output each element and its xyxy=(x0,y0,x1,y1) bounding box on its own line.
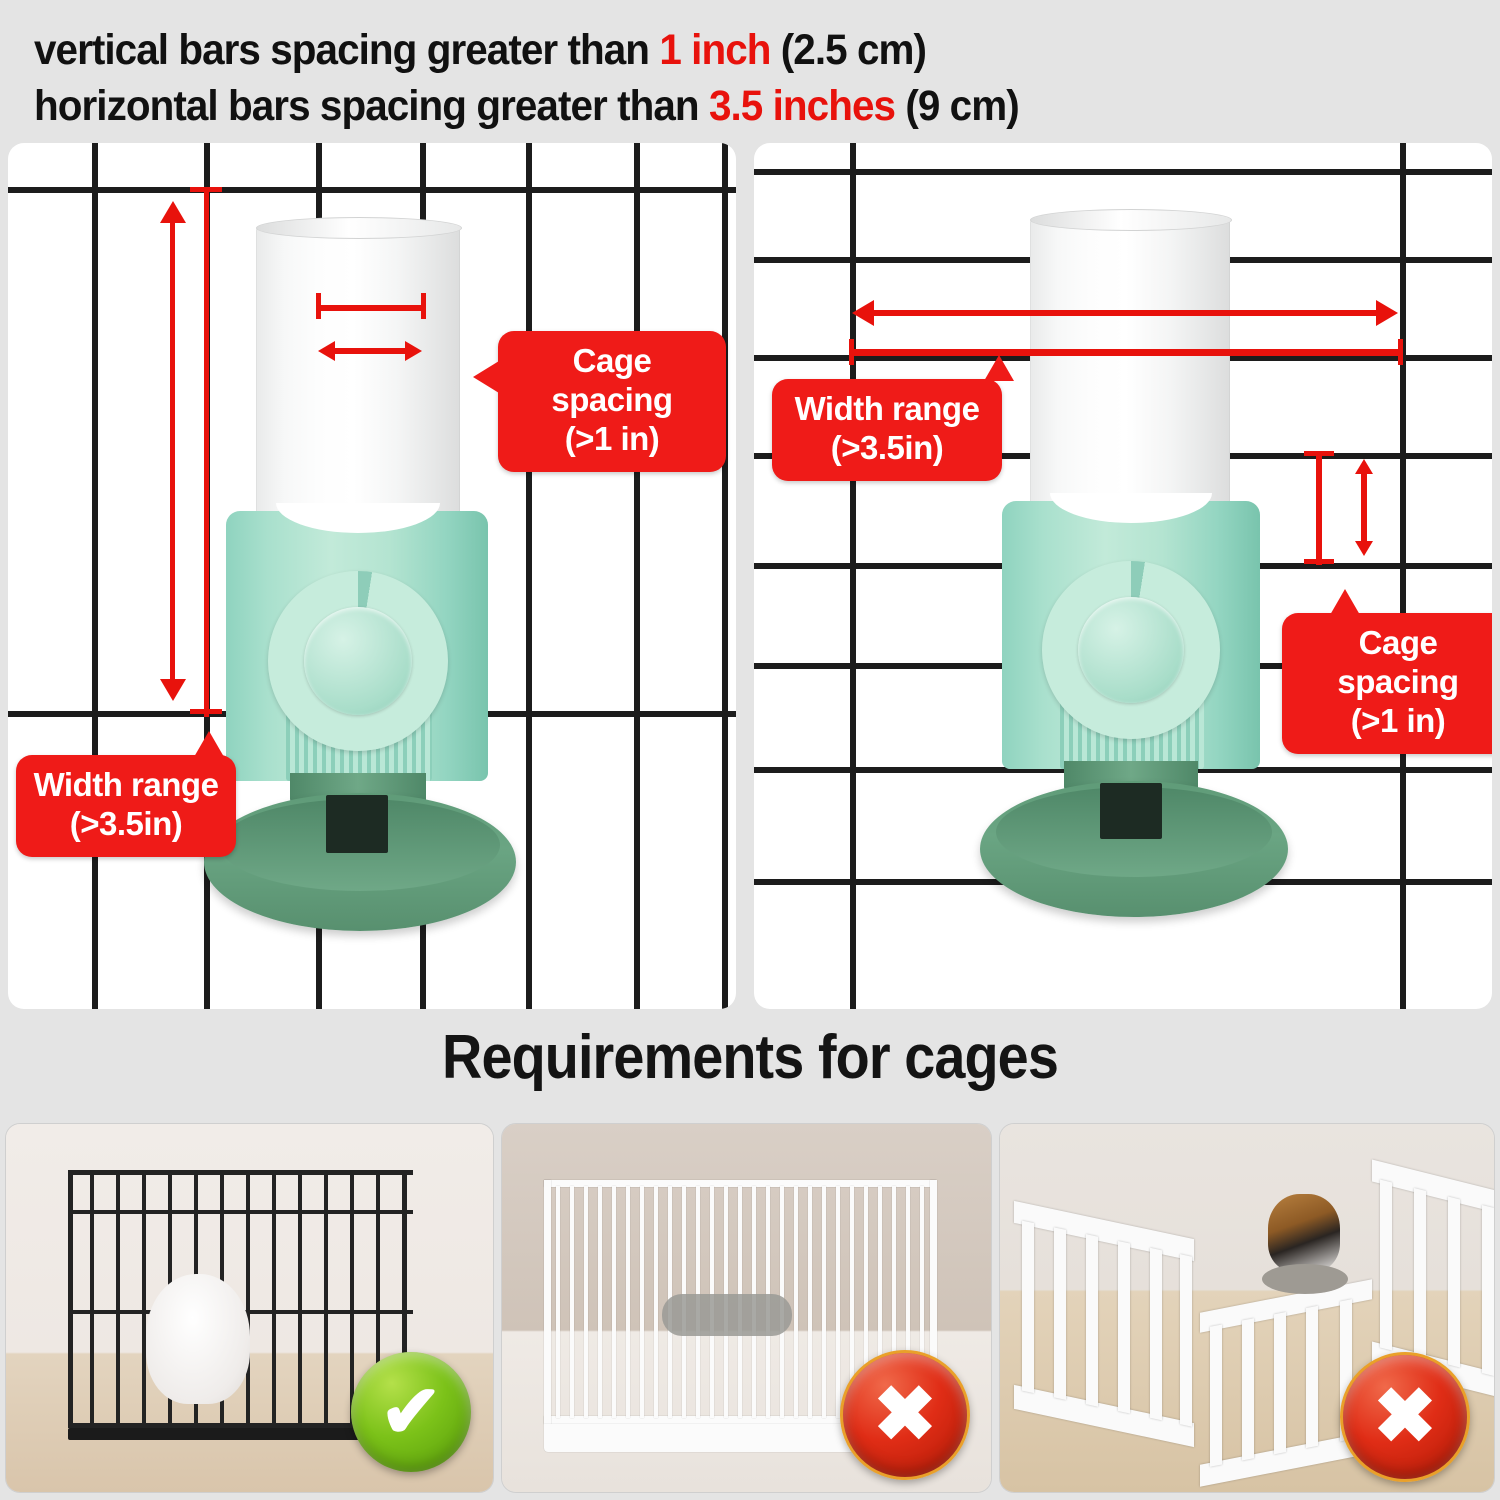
check-icon: ✔ xyxy=(380,1375,442,1449)
callout-line-1: Width range xyxy=(32,766,220,805)
playpen-front-gate xyxy=(1200,1279,1372,1488)
header-line-2: horizontal bars spacing greater than 3.5… xyxy=(34,82,1019,131)
measure-arrow-shaft xyxy=(333,348,409,354)
header-line2-post: (9 cm) xyxy=(895,82,1019,130)
cage-post xyxy=(850,143,856,1009)
callout-width-range[interactable]: Width range (>3.5in) xyxy=(772,379,1002,481)
measure-span-line xyxy=(316,305,426,311)
bottle-rim xyxy=(1030,209,1232,231)
measure-tick-bottom xyxy=(190,709,222,714)
callout-line-2: (>3.5in) xyxy=(32,805,220,844)
measure-tick-top xyxy=(190,187,222,192)
callout-cage-spacing[interactable]: Cage spacing (>1 in) xyxy=(498,331,726,472)
cage-rail-top xyxy=(8,187,736,193)
beagle-dog xyxy=(1268,1194,1340,1272)
measure-span-line xyxy=(850,349,1402,356)
cage-rail xyxy=(754,169,1492,175)
measure-tick-left xyxy=(849,339,854,365)
callout-line-2: (>3.5in) xyxy=(788,429,986,468)
bottle-reservoir xyxy=(1030,217,1230,529)
dog-bed xyxy=(1262,1264,1348,1294)
bottle-rim xyxy=(256,217,462,239)
measure-tick-right xyxy=(1398,339,1403,365)
measure-arrowhead-up xyxy=(160,201,186,223)
dispenser-knob-inner xyxy=(1078,597,1184,703)
measure-arrowhead-down xyxy=(160,679,186,701)
measure-arrowhead-up xyxy=(1355,459,1373,474)
header-line1-highlight: 1 inch xyxy=(659,26,770,74)
callout-tail-icon xyxy=(1330,589,1360,615)
measure-extension-line xyxy=(1316,453,1322,565)
callout-line-2: (>1 in) xyxy=(514,420,710,459)
status-badge-cross: ✖ xyxy=(840,1350,970,1480)
measure-arrowhead-left xyxy=(318,341,335,361)
header-line1-post: (2.5 cm) xyxy=(770,26,926,74)
dispenser-knob-inner xyxy=(304,607,412,715)
callout-tail-icon xyxy=(194,731,224,757)
panel-horizontal-bar-cage: Width range (>3.5in) Cage spacing (>1 in… xyxy=(754,143,1492,1009)
measure-tick-top xyxy=(1304,451,1334,456)
bottle-reservoir xyxy=(256,225,460,535)
measure-arrowhead-right xyxy=(405,341,422,361)
measure-arrowhead-down xyxy=(1355,541,1373,556)
photo-card-bird-cage: ✖ xyxy=(502,1124,991,1492)
callout-line-2: (>1 in) xyxy=(1298,702,1492,741)
dispenser-bowl-slot xyxy=(1100,783,1162,839)
playpen-left-wall xyxy=(1014,1201,1194,1449)
measure-arrowhead-right xyxy=(1376,300,1398,326)
birds-in-cage xyxy=(662,1294,792,1336)
measure-tick-bottom xyxy=(1304,559,1334,564)
cross-icon: ✖ xyxy=(1373,1379,1437,1455)
header-line1-pre: vertical bars spacing greater than xyxy=(34,26,659,74)
photo-card-wire-crate: ✔ xyxy=(6,1124,493,1492)
callout-line-1: Cage spacing xyxy=(1298,624,1492,702)
measure-arrow-shaft xyxy=(1361,473,1367,543)
cross-icon: ✖ xyxy=(873,1377,937,1453)
callout-line-1: Cage spacing xyxy=(514,342,710,420)
photo-card-plastic-playpen: ✖ xyxy=(1000,1124,1494,1492)
callout-tail-icon xyxy=(473,361,499,393)
panel-vertical-bar-cage: Cage spacing (>1 in) Width range (>3.5in… xyxy=(8,143,736,1009)
cage-bar xyxy=(526,143,532,1009)
measure-arrow-shaft xyxy=(874,310,1378,316)
header-banner: vertical bars spacing greater than 1 inc… xyxy=(0,0,1500,140)
header-line-1: vertical bars spacing greater than 1 inc… xyxy=(34,26,926,75)
measure-tick-right xyxy=(421,293,426,319)
header-line2-highlight: 3.5 inches xyxy=(709,82,895,130)
cage-post xyxy=(1400,143,1406,1009)
dispenser-bowl-slot xyxy=(326,795,388,853)
measure-arrow-shaft xyxy=(170,221,175,681)
callout-tail-icon xyxy=(984,355,1014,381)
cage-bar xyxy=(722,143,728,1009)
measure-extension-line xyxy=(204,187,209,717)
callout-line-1: Width range xyxy=(788,390,986,429)
callout-width-range[interactable]: Width range (>3.5in) xyxy=(16,755,236,857)
dog-in-crate xyxy=(146,1274,250,1404)
status-badge-check: ✔ xyxy=(351,1352,471,1472)
callout-cage-spacing[interactable]: Cage spacing (>1 in) xyxy=(1282,613,1492,754)
measure-tick-left xyxy=(316,293,321,319)
measure-arrowhead-left xyxy=(852,300,874,326)
cage-bar xyxy=(634,143,640,1009)
cage-bar xyxy=(92,143,98,1009)
status-badge-cross: ✖ xyxy=(1340,1352,1470,1482)
section-title: Requirements for cages xyxy=(75,1022,1425,1093)
header-line2-pre: horizontal bars spacing greater than xyxy=(34,82,709,130)
